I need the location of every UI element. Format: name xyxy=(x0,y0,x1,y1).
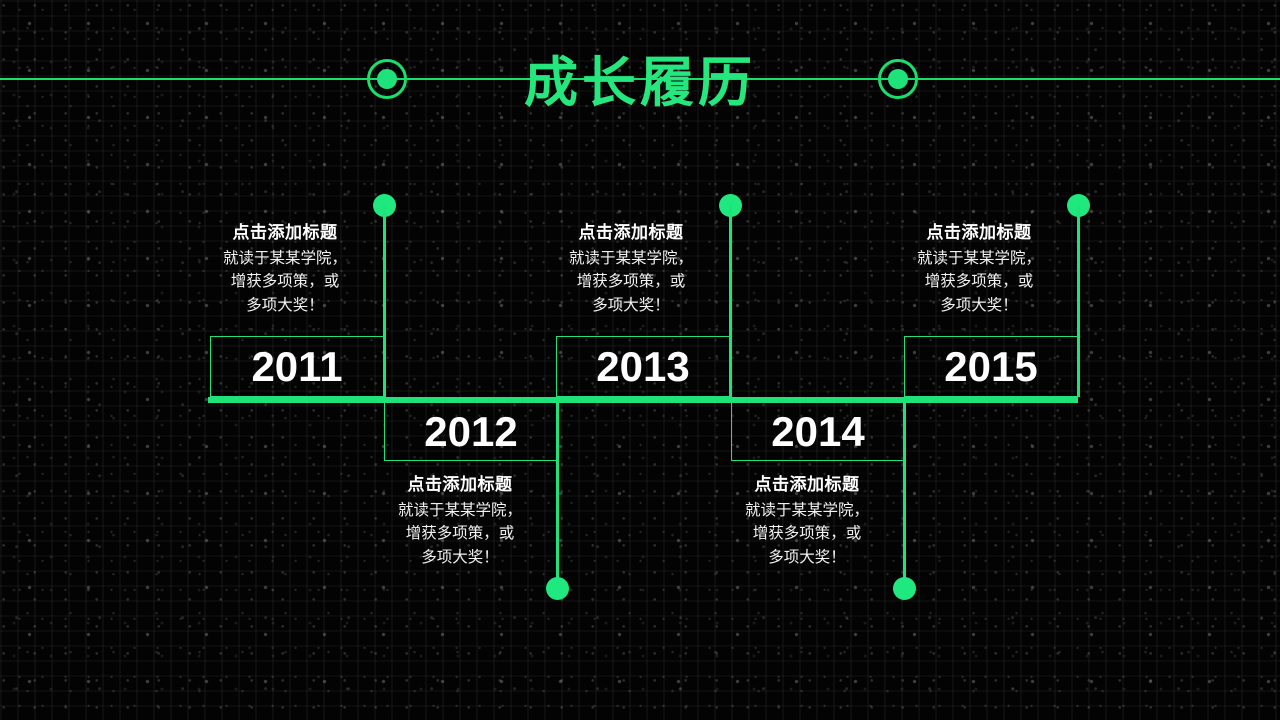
year-box-2012[interactable]: 2012 xyxy=(384,402,558,461)
body-line: 增获多项策，或 xyxy=(365,522,555,545)
text-block-body-2012: 就读于某某学院， 增获多项策，或 多项大奖！ xyxy=(365,499,555,569)
text-block-2012: 点击添加标题 就读于某某学院， 增获多项策，或 多项大奖！ xyxy=(365,470,555,569)
text-block-title-2011: 点击添加标题 xyxy=(190,218,380,243)
text-block-body-2013: 就读于某某学院， 增获多项策，或 多项大奖！ xyxy=(536,247,726,317)
page-title: 成长履历 xyxy=(0,38,1280,117)
body-line: 增获多项策，或 xyxy=(190,270,380,293)
year-box-2015[interactable]: 2015 xyxy=(904,336,1078,397)
body-line: 多项大奖！ xyxy=(365,546,555,569)
body-line: 增获多项策，或 xyxy=(712,522,902,545)
text-block-2015: 点击添加标题 就读于某某学院， 增获多项策，或 多项大奖！ xyxy=(884,218,1074,317)
body-line: 就读于某某学院， xyxy=(190,247,380,270)
text-block-title-2013: 点击添加标题 xyxy=(536,218,726,243)
text-block-body-2015: 就读于某某学院， 增获多项策，或 多项大奖！ xyxy=(884,247,1074,317)
timeline-axis xyxy=(208,397,1078,403)
timeline-connector-2012 xyxy=(556,402,559,588)
text-block-body-2011: 就读于某某学院， 增获多项策，或 多项大奖！ xyxy=(190,247,380,317)
body-line: 就读于某某学院， xyxy=(536,247,726,270)
text-block-2013: 点击添加标题 就读于某某学院， 增获多项策，或 多项大奖！ xyxy=(536,218,726,317)
year-box-2014[interactable]: 2014 xyxy=(731,402,905,461)
body-line: 多项大奖！ xyxy=(712,546,902,569)
body-line: 增获多项策，或 xyxy=(536,270,726,293)
body-line: 多项大奖！ xyxy=(190,294,380,317)
year-box-2013[interactable]: 2013 xyxy=(556,336,730,397)
body-line: 增获多项策，或 xyxy=(884,270,1074,293)
timeline-node-dot-2012[interactable] xyxy=(546,577,569,600)
text-block-title-2015: 点击添加标题 xyxy=(884,218,1074,243)
text-block-2014: 点击添加标题 就读于某某学院， 增获多项策，或 多项大奖！ xyxy=(712,470,902,569)
text-block-body-2014: 就读于某某学院， 增获多项策，或 多项大奖！ xyxy=(712,499,902,569)
timeline-node-dot-2014[interactable] xyxy=(893,577,916,600)
body-line: 就读于某某学院， xyxy=(365,499,555,522)
body-line: 多项大奖！ xyxy=(536,294,726,317)
text-block-title-2012: 点击添加标题 xyxy=(365,470,555,495)
timeline-connector-2014 xyxy=(903,402,906,588)
text-block-2011: 点击添加标题 就读于某某学院， 增获多项策，或 多项大奖！ xyxy=(190,218,380,317)
year-box-2011[interactable]: 2011 xyxy=(210,336,384,397)
slide-canvas: 成长履历 2011 点击添加标题 就读于某某学院， 增获多项策，或 多项大奖！ … xyxy=(0,0,1280,720)
body-line: 就读于某某学院， xyxy=(884,247,1074,270)
body-line: 就读于某某学院， xyxy=(712,499,902,522)
text-block-title-2014: 点击添加标题 xyxy=(712,470,902,495)
body-line: 多项大奖！ xyxy=(884,294,1074,317)
